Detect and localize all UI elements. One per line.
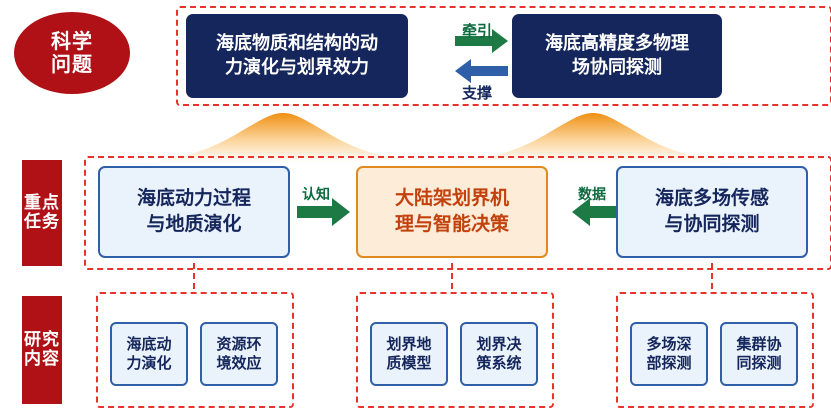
top-box-0-line1: 海底物质和结构的动 [216, 32, 378, 56]
bottom-box-delimitation-decision-system[interactable]: 划界决 策系统 [460, 322, 538, 386]
mid-box-1-line1: 大陆架划界机 [395, 186, 509, 212]
research-content-label: 研究内容 [22, 296, 62, 404]
mountain-shape-left [118, 113, 448, 162]
bottom-box-1-0-line1: 划界地 [386, 335, 431, 354]
bottom-box-2-1-line2: 同探测 [736, 354, 781, 373]
support-arrow-label: 支撑 [462, 82, 492, 103]
top-box-1-line1: 海底高精度多物理 [545, 32, 689, 56]
research-content-text: 研究内容 [22, 331, 62, 369]
key-tasks-text: 重点任务 [22, 194, 62, 232]
mountain-shape-right [428, 113, 758, 162]
mid-box-seabed-dynamic-process[interactable]: 海底动力过程 与地质演化 [98, 166, 290, 258]
top-box-0-line2: 力演化与划界效力 [216, 56, 378, 80]
mid-box-seabed-multifield-sensing[interactable]: 海底多场传感 与协同探测 [616, 166, 808, 258]
bottom-box-seabed-dynamic-evolution[interactable]: 海底动 力演化 [110, 322, 188, 386]
bottom-box-0-1-line1: 资源环 [216, 335, 261, 354]
bottom-box-resource-environment-effect[interactable]: 资源环 境效应 [200, 322, 278, 386]
bottom-box-2-1-line1: 集群协 [736, 335, 781, 354]
bottom-box-1-0-line2: 质模型 [386, 354, 431, 373]
diagram-root: 科学 问题 海底物质和结构的动 力演化与划界效力 海底高精度多物理 场协同探测 … [0, 0, 831, 416]
science-question-line2: 问题 [51, 53, 93, 76]
bottom-box-2-0-line1: 多场深 [646, 335, 691, 354]
bottom-box-1-1-line1: 划界决 [476, 335, 521, 354]
mid-box-1-line2: 理与智能决策 [395, 212, 509, 238]
mid-box-0-line2: 与地质演化 [137, 212, 251, 238]
bottom-box-2-0-line2: 部探测 [646, 354, 691, 373]
cognition-arrow-label: 认知 [302, 184, 330, 204]
data-arrow-label: 数据 [578, 184, 606, 204]
science-question-badge: 科学 问题 [14, 12, 130, 94]
mid-box-0-line1: 海底动力过程 [137, 186, 251, 212]
bottom-box-cluster-collaborative-detection[interactable]: 集群协 同探测 [720, 322, 798, 386]
mid-box-2-line1: 海底多场传感 [655, 186, 769, 212]
top-box-seabed-high-precision[interactable]: 海底高精度多物理 场协同探测 [512, 14, 722, 98]
top-box-seabed-matter-structure[interactable]: 海底物质和结构的动 力演化与划界效力 [186, 14, 408, 98]
bottom-box-delimitation-geological-model[interactable]: 划界地 质模型 [370, 322, 448, 386]
mid-box-2-line2: 与协同探测 [655, 212, 769, 238]
traction-arrow-label: 牵引 [462, 20, 492, 41]
mid-box-continental-shelf-delimitation[interactable]: 大陆架划界机 理与智能决策 [356, 166, 548, 258]
bottom-box-0-0-line1: 海底动 [126, 335, 171, 354]
key-tasks-label: 重点任务 [22, 160, 62, 266]
bottom-box-0-1-line2: 境效应 [216, 354, 261, 373]
top-box-1-line2: 场协同探测 [545, 56, 689, 80]
science-question-line1: 科学 [51, 30, 93, 53]
bottom-box-multifield-deep-detection[interactable]: 多场深 部探测 [630, 322, 708, 386]
bottom-box-1-1-line2: 策系统 [476, 354, 521, 373]
bottom-box-0-0-line2: 力演化 [126, 354, 171, 373]
